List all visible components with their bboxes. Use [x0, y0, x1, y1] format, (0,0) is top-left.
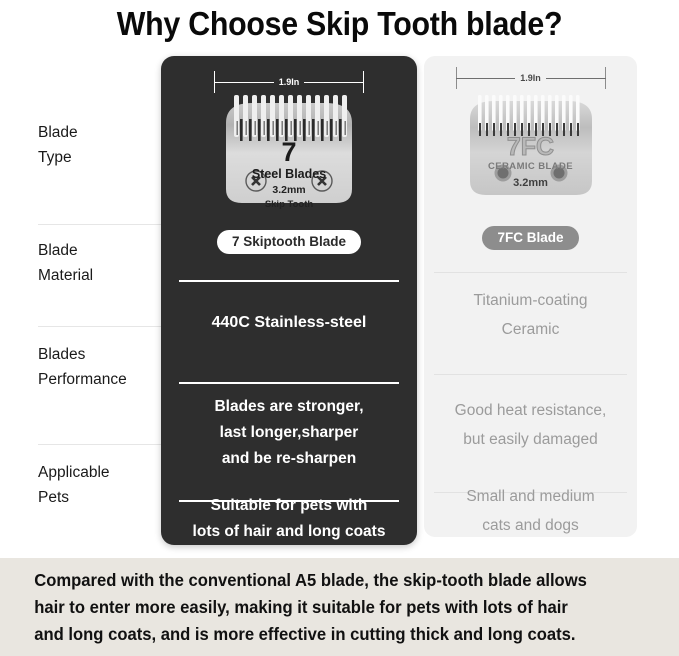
featured-pets-line: lots of hair and long coats — [193, 519, 386, 545]
compared-pets-line: cats and dogs — [482, 511, 579, 540]
featured-blade-material-cell: 440C Stainless-steel — [161, 272, 417, 374]
row-label-line: Pets — [38, 485, 163, 510]
featured-row-divider — [179, 500, 399, 502]
featured-blade-subtitle: Steel Blades — [214, 167, 364, 181]
featured-blade-thickness: 3.2mm — [214, 184, 364, 196]
featured-row-divider — [179, 382, 399, 384]
row-label-line: Blade — [38, 120, 163, 145]
compared-material-line: Ceramic — [502, 315, 560, 344]
page-title: Why Choose Skip Tooth blade? — [27, 0, 652, 48]
row-label-blades-performance: Blades Performance — [38, 342, 163, 392]
featured-performance-line: and be re-sharpen — [222, 446, 356, 472]
featured-blade-pill-label: 7 Skiptooth Blade — [217, 230, 361, 254]
compared-performance-cell: Good heat resistance, but easily damaged — [424, 366, 637, 484]
compared-material-line: Titanium-coating — [473, 286, 587, 315]
summary-line: Compared with the conventional A5 blade,… — [34, 567, 587, 594]
compared-blade-type-cell: 1.9In — [424, 56, 637, 264]
featured-performance-cell: Blades are stronger, last longer,sharper… — [161, 374, 417, 492]
featured-row-divider — [179, 280, 399, 282]
comparison-table: Blade Type Blade Material Blades Perform… — [0, 48, 679, 558]
summary-line: hair to enter more easily, making it sui… — [34, 594, 587, 621]
compared-blade-body: 7FC CERAMIC BLADE 3.2mm — [456, 85, 606, 220]
row-label-line: Material — [38, 263, 163, 288]
featured-blade-body: 7 Steel Blades 3.2mm Skip Tooth — [214, 89, 364, 224]
row-label-line: Blades — [38, 342, 163, 367]
row-label-line: Blade — [38, 238, 163, 263]
row-label-column: Blade Type Blade Material Blades Perform… — [0, 48, 161, 558]
featured-product-card: 1.9In — [161, 56, 417, 545]
compared-blade-dimension: 1.9In — [456, 71, 606, 85]
compared-product-card: 1.9In — [424, 56, 637, 537]
row-label-line: Type — [38, 145, 163, 170]
summary-line: and long coats, and is more effective in… — [34, 621, 587, 648]
compared-performance-line: but easily damaged — [463, 425, 597, 454]
featured-blade-tooth-type: Skip Tooth — [214, 199, 364, 210]
compared-blade-pill-label: 7FC Blade — [482, 226, 578, 250]
row-divider — [38, 326, 161, 327]
compared-blade-illustration: 1.9In — [424, 71, 637, 250]
row-label-applicable-pets: Applicable Pets — [38, 460, 163, 510]
compared-pets-cell: Small and medium cats and dogs — [424, 484, 637, 537]
featured-blade-illustration: 1.9In — [161, 75, 417, 254]
featured-material-line: 440C Stainless-steel — [212, 310, 367, 336]
compared-pets-line: Small and medium — [466, 482, 594, 511]
row-label-blade-material: Blade Material — [38, 238, 163, 288]
summary-banner-text: Compared with the conventional A5 blade,… — [0, 567, 619, 648]
row-label-blade-type: Blade Type — [38, 120, 163, 170]
featured-performance-line: Blades are stronger, — [214, 394, 363, 420]
summary-banner: Compared with the conventional A5 blade,… — [0, 558, 679, 656]
compared-blade-thickness: 3.2mm — [456, 177, 606, 189]
compared-blade-number: 7FC — [456, 133, 606, 162]
featured-performance-line: last longer,sharper — [220, 420, 359, 446]
dimension-label: 1.9In — [274, 77, 305, 87]
compared-blade-material-cell: Titanium-coating Ceramic — [424, 264, 637, 366]
compared-blade-subtitle: CERAMIC BLADE — [456, 161, 606, 172]
featured-pets-line: Suitable for pets with — [211, 493, 368, 519]
row-label-line: Performance — [38, 367, 163, 392]
featured-blade-type-cell: 1.9In — [161, 56, 417, 272]
compared-performance-line: Good heat resistance, — [455, 396, 607, 425]
row-divider — [38, 224, 161, 225]
featured-blade-dimension: 1.9In — [214, 75, 364, 89]
featured-blade-number: 7 — [214, 137, 364, 168]
row-divider — [38, 444, 161, 445]
row-label-line: Applicable — [38, 460, 163, 485]
dimension-label: 1.9In — [515, 73, 546, 83]
